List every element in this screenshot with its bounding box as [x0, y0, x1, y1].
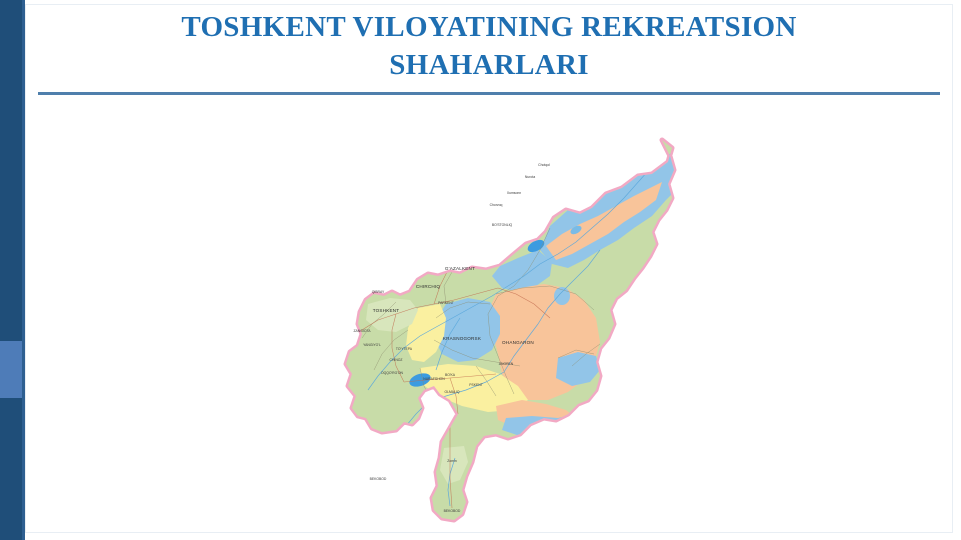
map-districts: [300, 118, 700, 530]
svg-text:TO'YTEPA: TO'YTEPA: [396, 347, 413, 351]
svg-text:CHIRCHIQ: CHIRCHIQ: [416, 284, 441, 289]
svg-text:PARKENT: PARKENT: [438, 301, 454, 305]
svg-text:OHANGARON: OHANGARON: [502, 340, 534, 345]
svg-text:BEKOBOD: BEKOBOD: [444, 509, 461, 513]
svg-text:PSKENT: PSKENT: [469, 383, 483, 387]
svg-text:TOSHKENT: TOSHKENT: [373, 308, 400, 313]
tashkent-region-map-svg: G'AZALKENT CHIRCHIQ PARKENT TOSHKENT QIB…: [300, 118, 700, 530]
title-divider-rule: [38, 92, 940, 95]
svg-text:BO'KA: BO'KA: [445, 373, 456, 377]
slide-left-rail-accent: [0, 341, 22, 398]
tashkent-region-map: G'AZALKENT CHIRCHIQ PARKENT TOSHKENT QIB…: [300, 118, 700, 530]
svg-text:BEKOBOD: BEKOBOD: [370, 477, 387, 481]
svg-text:OQQO'RG'ON: OQQO'RG'ON: [381, 371, 404, 375]
svg-text:YANGIYO'L: YANGIYO'L: [363, 343, 381, 347]
svg-text:KRASNOGORSK: KRASNOGORSK: [443, 336, 482, 341]
presentation-slide: TOSHKENT VILOYATINING REKREATSION SHAHAR…: [0, 0, 961, 540]
svg-text:G'AZALKENT: G'AZALKENT: [445, 266, 475, 271]
svg-text:Chotqol: Chotqol: [538, 163, 550, 167]
svg-text:NURAFSHON: NURAFSHON: [423, 377, 445, 381]
svg-text:ZANGIOTA: ZANGIOTA: [353, 329, 371, 333]
svg-text:BO'STONLIQ: BO'STONLIQ: [492, 223, 513, 227]
svg-text:Zomin: Zomin: [447, 459, 457, 463]
svg-text:QIBRAY: QIBRAY: [372, 290, 385, 294]
svg-text:CHINOZ: CHINOZ: [390, 358, 403, 362]
slide-rail-hairline: [22, 0, 25, 540]
svg-text:Xumsonn: Xumsonn: [507, 191, 521, 195]
slide-left-rail: [0, 0, 22, 540]
svg-text:ANGREN: ANGREN: [499, 362, 514, 366]
svg-text:Chorvoq: Chorvoq: [490, 203, 503, 207]
svg-text:OLMALIQ: OLMALIQ: [444, 390, 459, 394]
svg-text:Nurota: Nurota: [525, 175, 535, 179]
